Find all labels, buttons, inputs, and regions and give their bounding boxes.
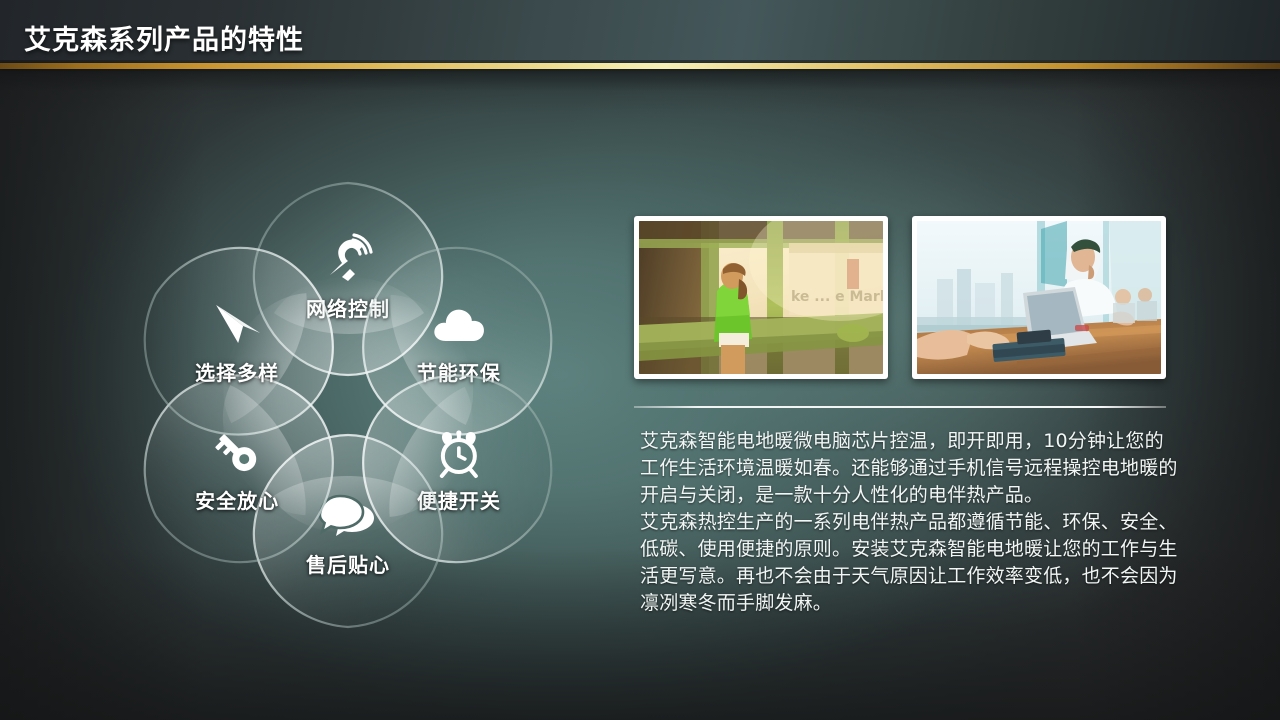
paper-plane-icon — [208, 297, 266, 351]
photo-market-image: ke ... e Market — [639, 221, 883, 374]
photo-gallery: ke ... e Market — [634, 216, 1168, 379]
petal-label: 安全放心 — [195, 485, 279, 514]
photo-meeting[interactable] — [912, 216, 1166, 379]
description-paragraph-2: 艾克森热控生产的一系列电伴热产品都遵循节能、环保、安全、低碳、使用便捷的原则。安… — [640, 509, 1180, 617]
slide-root: 艾克森系列产品的特性 — [0, 0, 1280, 720]
page-title: 艾克森系列产品的特性 — [24, 18, 304, 57]
petal-label: 选择多样 — [195, 357, 279, 386]
petal-content: 选择多样 — [131, 235, 343, 447]
content-divider — [634, 406, 1166, 408]
description-text: 艾克森智能电地暖微电脑芯片控温，即开即用，10分钟让您的工作生活环境温暖如春。还… — [640, 428, 1180, 617]
photo-meeting-image — [917, 221, 1161, 374]
header-shadow-fade — [0, 69, 1280, 91]
slide-header: 艾克森系列产品的特性 — [0, 0, 1280, 60]
petal-diverse-choice[interactable]: 选择多样 — [92, 196, 382, 486]
description-paragraph-1: 艾克森智能电地暖微电脑芯片控温，即开即用，10分钟让您的工作生活环境温暖如春。还… — [640, 428, 1180, 509]
photo-market[interactable]: ke ... e Market — [634, 216, 888, 379]
feature-flower-diagram: 网络控制 节能环保 — [88, 140, 608, 670]
